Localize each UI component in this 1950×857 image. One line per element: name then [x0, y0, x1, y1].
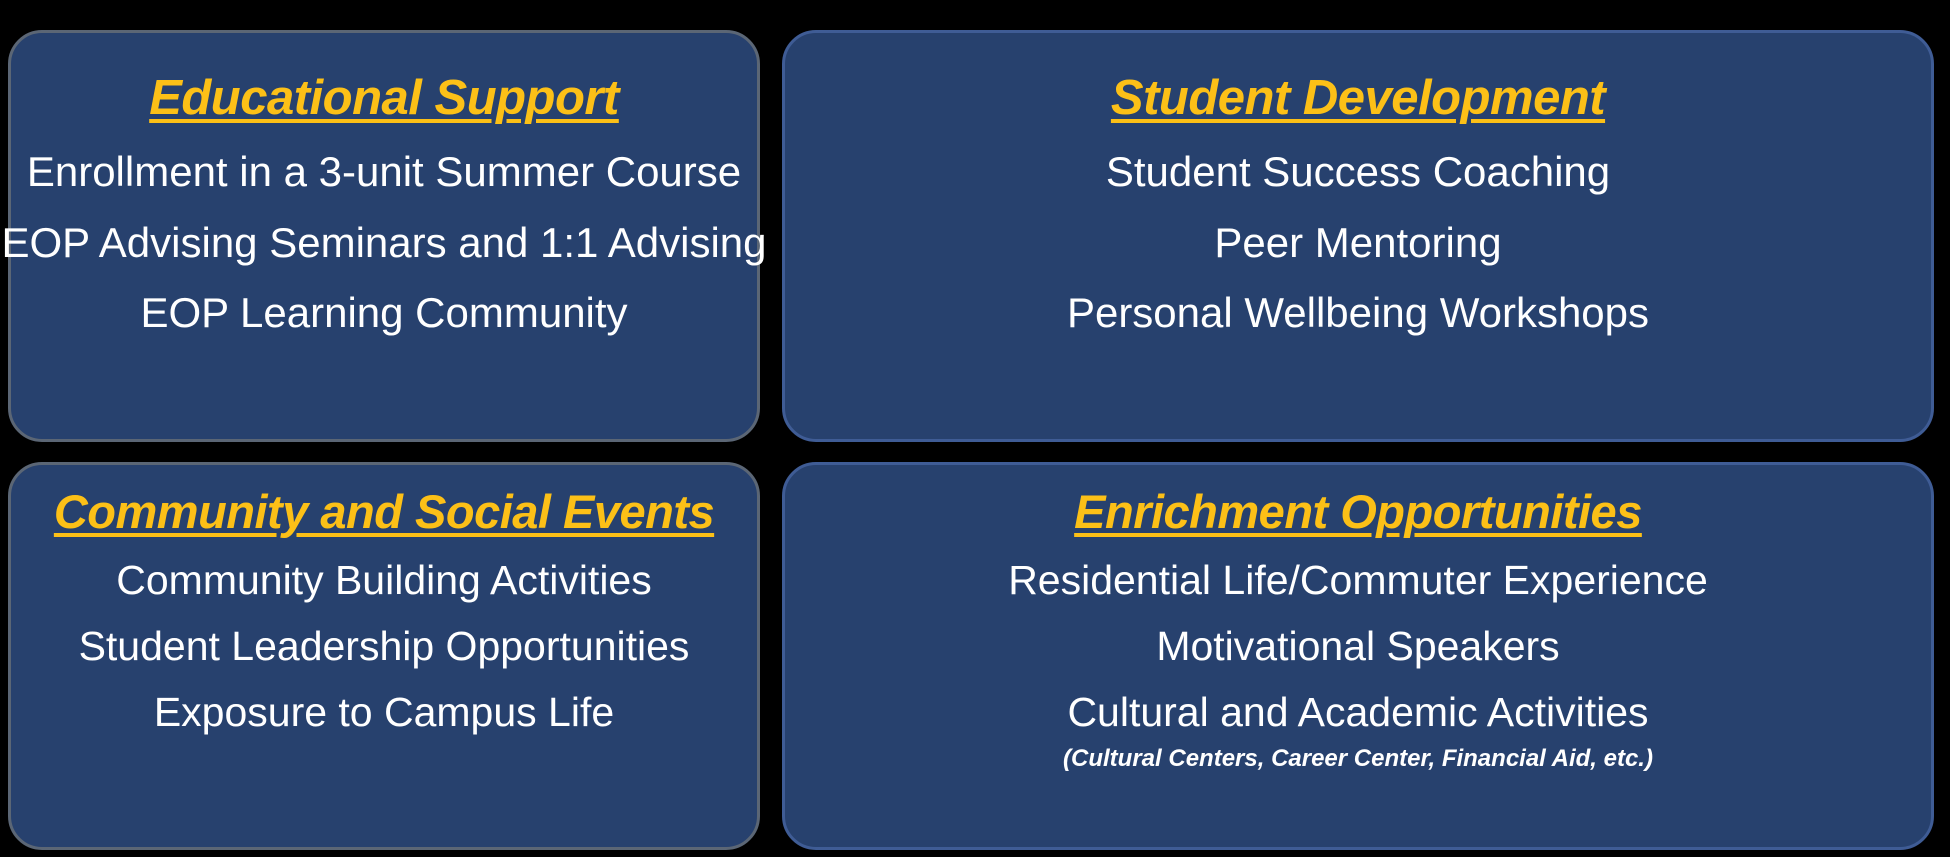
card-line: Residential Life/Commuter Experience [1008, 559, 1708, 602]
card-line: Enrollment in a 3-unit Summer Course [27, 150, 741, 194]
card-line: EOP Advising Seminars and 1:1 Advising [2, 221, 767, 265]
card-line: Personal Wellbeing Workshops [1067, 291, 1649, 335]
card-title: Educational Support [149, 73, 619, 124]
card-line: Exposure to Campus Life [154, 691, 614, 734]
card-title: Enrichment Opportunities [1074, 487, 1642, 536]
card-content: Community and Social Events Community Bu… [11, 465, 757, 734]
slide-canvas: Educational Support Enrollment in a 3-un… [0, 0, 1950, 857]
card-title: Community and Social Events [54, 487, 714, 536]
card-community-social-events[interactable]: Community and Social Events Community Bu… [8, 462, 760, 850]
card-content: Educational Support Enrollment in a 3-un… [11, 33, 757, 335]
card-line: Community Building Activities [116, 559, 651, 602]
card-content: Enrichment Opportunities Residential Lif… [785, 465, 1931, 772]
card-line: Peer Mentoring [1214, 221, 1501, 265]
card-line: Student Success Coaching [1106, 150, 1610, 194]
card-line: Student Leadership Opportunities [79, 625, 690, 668]
card-title: Student Development [1111, 73, 1605, 124]
card-enrichment-opportunities[interactable]: Enrichment Opportunities Residential Lif… [782, 462, 1934, 850]
card-line: EOP Learning Community [140, 291, 627, 335]
card-line: Motivational Speakers [1156, 625, 1559, 668]
card-line: Cultural and Academic Activities [1067, 691, 1648, 734]
card-student-development[interactable]: Student Development Student Success Coac… [782, 30, 1934, 442]
card-note: (Cultural Centers, Career Center, Financ… [1063, 746, 1653, 771]
card-content: Student Development Student Success Coac… [785, 33, 1931, 335]
card-educational-support[interactable]: Educational Support Enrollment in a 3-un… [8, 30, 760, 442]
